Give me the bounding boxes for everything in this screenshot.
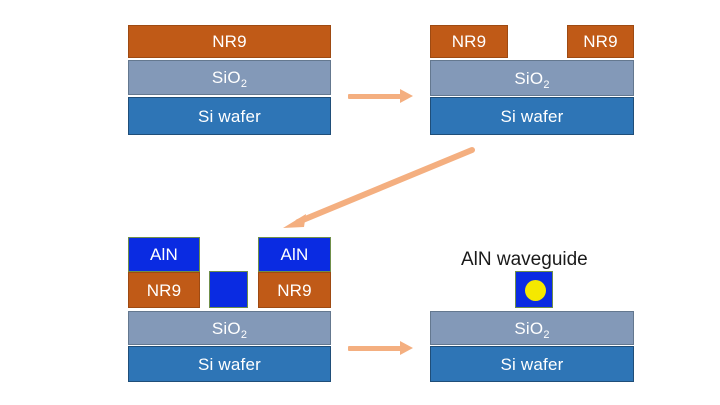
step2-si-wafer-layer: Si wafer xyxy=(430,97,634,135)
step1-nr9-layer: NR9 xyxy=(128,25,331,58)
arrow-head xyxy=(400,89,413,103)
step4-sio2-label: SiO2 xyxy=(514,320,549,337)
step4-aln-waveguide-core xyxy=(515,271,553,308)
step3-nr9-left-block: NR9 xyxy=(128,272,200,308)
step1-si-wafer-label: Si wafer xyxy=(198,108,261,125)
step3-aln-left-label: AlN xyxy=(150,246,178,263)
step4-si-wafer-label: Si wafer xyxy=(500,356,563,373)
step1-si-wafer-layer: Si wafer xyxy=(128,97,331,135)
step3-nr9-right-block: NR9 xyxy=(258,272,331,308)
step3-nr9-right-label: NR9 xyxy=(277,282,312,299)
step3-sio2-label: SiO2 xyxy=(212,320,247,337)
step2-nr9-right-block: NR9 xyxy=(567,25,634,58)
step4-sio2-layer: SiO2 xyxy=(430,311,634,345)
step2-nr9-right-label: NR9 xyxy=(583,33,618,50)
step1-sio2-label: SiO2 xyxy=(212,69,247,86)
step1-sio2-layer: SiO2 xyxy=(128,60,331,95)
step3-sio2-layer: SiO2 xyxy=(128,311,331,345)
step3-nr9-left-label: NR9 xyxy=(147,282,182,299)
step3-si-wafer-layer: Si wafer xyxy=(128,346,331,382)
step4-si-wafer-layer: Si wafer xyxy=(430,346,634,382)
arrow-diagonal-shaft xyxy=(298,150,472,222)
step1-nr9-label: NR9 xyxy=(212,33,247,50)
step2-sio2-layer: SiO2 xyxy=(430,60,634,96)
step2-si-wafer-label: Si wafer xyxy=(500,108,563,125)
step3-aln-right-label: AlN xyxy=(281,246,309,263)
step3-aln-left-block: AlN xyxy=(128,237,200,272)
arrow-shaft xyxy=(348,94,401,99)
arrow-head xyxy=(400,341,413,355)
step2-nr9-left-block: NR9 xyxy=(430,25,508,58)
step3-si-wafer-label: Si wafer xyxy=(198,356,261,373)
step2-nr9-left-label: NR9 xyxy=(452,33,487,50)
process-flow-figure: NR9 SiO2 Si wafer NR9 NR9 SiO2 Si wafer xyxy=(0,0,720,405)
arrow-shaft xyxy=(348,346,401,351)
aln-waveguide-caption: AlN waveguide xyxy=(461,249,588,271)
optical-mode-spot-icon xyxy=(525,280,546,301)
step2-sio2-label: SiO2 xyxy=(514,70,549,87)
step3-aln-trench-core xyxy=(209,271,248,308)
arrow-diagonal-head xyxy=(283,214,306,228)
step3-aln-right-block: AlN xyxy=(258,237,331,272)
